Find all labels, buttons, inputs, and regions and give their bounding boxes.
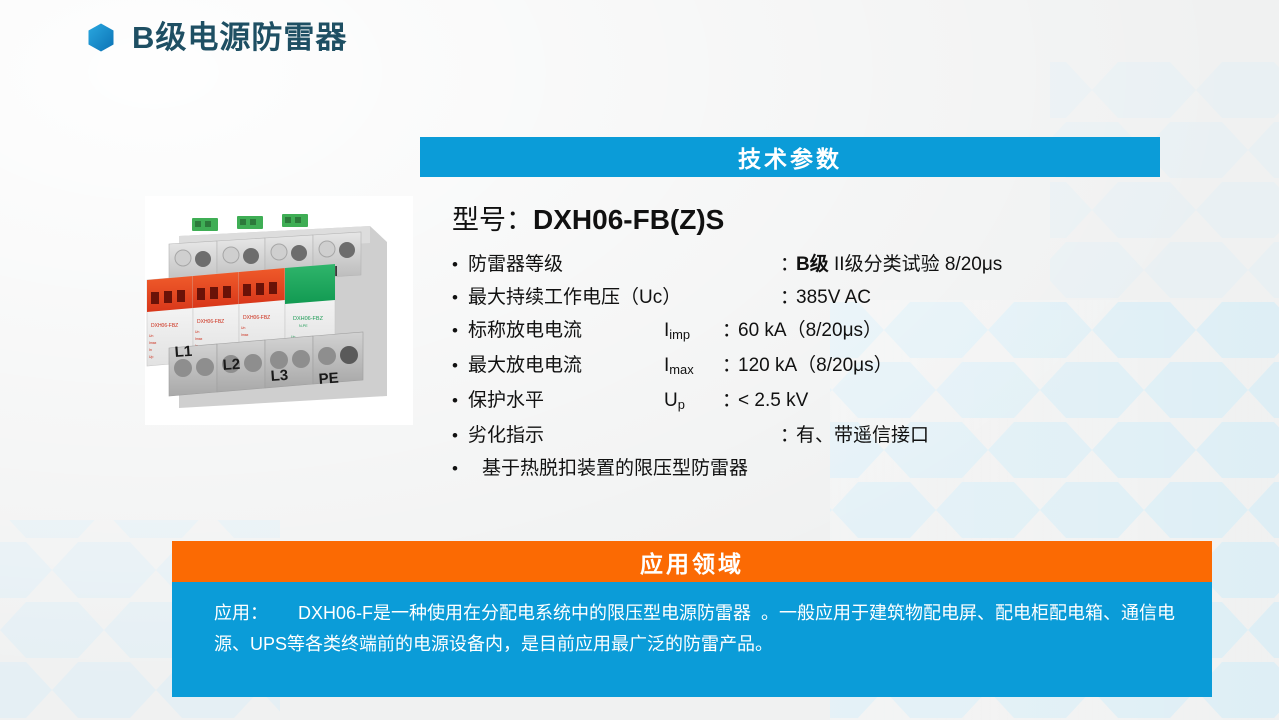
application-header: 应用领域 [172, 541, 1212, 582]
spec-colon: ： [780, 426, 796, 445]
application-body: 应用： DXH06-F是一种使用在分配电系统中的限压型电源防雷器 。一般应用于建… [172, 582, 1212, 697]
spec-row: •基于热脱扣装置的限压型防雷器 [452, 459, 1072, 478]
spec-name: 最大持续工作电压（Uc） [468, 288, 722, 307]
spec-symbol-subscript: max [669, 362, 693, 377]
model-label: 型号： [452, 205, 533, 235]
spec-row: •劣化指示：有、带遥信接口 [452, 426, 1072, 445]
svg-text:N-PE: N-PE [299, 324, 308, 328]
spec-value: < 2.5 kV [738, 391, 808, 410]
model-line: 型号：DXH06-FB(Z)S [452, 198, 1072, 237]
svg-text:DXH06-FBZ: DXH06-FBZ [197, 319, 224, 325]
spec-symbol-subscript: imp [669, 327, 690, 342]
spec-bullet: • [452, 322, 468, 339]
spec-bullet: • [452, 427, 468, 444]
svg-text:Imax: Imax [241, 333, 249, 337]
tech-params-list: 型号：DXH06-FB(Z)S •防雷器等级：B级 II级分类试验 8/20μs… [452, 198, 1072, 492]
spec-symbol: Imax [664, 356, 722, 377]
spec-value-emphasis: B级 [796, 254, 829, 275]
spec-symbol: Up [664, 391, 722, 412]
spec-name: 最大放电电流 [468, 356, 664, 375]
svg-text:Un: Un [149, 334, 153, 338]
spec-value: 60 kA（8/20μs） [738, 321, 882, 340]
svg-text:Up: Up [149, 355, 153, 359]
svg-text:L2: L2 [222, 356, 241, 374]
spec-rows: •防雷器等级：B级 II级分类试验 8/20μs•最大持续工作电压（Uc）：38… [452, 255, 1072, 478]
spec-bullet: • [452, 357, 468, 374]
spd-module-illustration: N DXH06-FBZ Un Imax In Up DXH06-FBZ Un I… [145, 196, 413, 425]
spec-row: •最大持续工作电压（Uc）：385V AC [452, 288, 1072, 307]
spec-symbol: Iimp [664, 321, 722, 342]
spec-name: 标称放电电流 [468, 321, 664, 340]
spec-name: 基于热脱扣装置的限压型防雷器 [468, 459, 748, 478]
spec-bullet: • [452, 289, 468, 306]
spec-symbol-subscript: p [678, 398, 685, 413]
spec-row: •防雷器等级：B级 II级分类试验 8/20μs [452, 255, 1072, 274]
model-value: DXH06-FB(Z)S [533, 204, 724, 235]
svg-text:In: In [149, 348, 152, 352]
spec-colon: ： [780, 255, 796, 274]
spec-name: 保护水平 [468, 391, 664, 410]
spec-colon: ： [722, 356, 738, 375]
spec-row: •保护水平Up： < 2.5 kV [452, 391, 1072, 412]
svg-text:Imax: Imax [195, 337, 203, 341]
spec-colon: ： [722, 321, 738, 340]
svg-text:Un: Un [241, 326, 245, 330]
svg-text:Imax: Imax [149, 341, 157, 345]
svg-text:L1: L1 [174, 343, 193, 361]
spec-row: •最大放电电流Imax：120 kA（8/20μs） [452, 356, 1072, 377]
svg-text:Un: Un [195, 330, 199, 334]
spec-bullet: • [452, 392, 468, 409]
spec-colon: ： [722, 391, 738, 410]
spec-value: 385V AC [796, 288, 871, 307]
spec-name: 劣化指示 [468, 426, 722, 445]
hexagon-icon [88, 23, 114, 52]
svg-text:DXH06-FBZ: DXH06-FBZ [293, 316, 324, 322]
spec-value: 有、带遥信接口 [796, 426, 929, 445]
svg-text:PE: PE [318, 370, 339, 388]
spec-bullet: • [452, 256, 468, 273]
svg-text:DXH06-FBZ: DXH06-FBZ [243, 315, 270, 321]
spec-name: 防雷器等级 [468, 255, 722, 274]
spec-colon: ： [780, 288, 796, 307]
spec-row: •标称放电电流Iimp：60 kA（8/20μs） [452, 321, 1072, 342]
svg-text:DXH06-FBZ: DXH06-FBZ [151, 323, 178, 329]
spec-bullet: • [452, 460, 468, 477]
product-image: N DXH06-FBZ Un Imax In Up DXH06-FBZ Un I… [145, 196, 413, 425]
spec-value: 120 kA（8/20μs） [738, 356, 893, 375]
spec-value: B级 II级分类试验 8/20μs [796, 255, 1002, 274]
page-header: B级电源防雷器 [88, 22, 347, 53]
tech-params-header: 技术参数 [420, 137, 1160, 177]
svg-text:L3: L3 [270, 367, 289, 385]
page-title: B级电源防雷器 [132, 22, 347, 53]
